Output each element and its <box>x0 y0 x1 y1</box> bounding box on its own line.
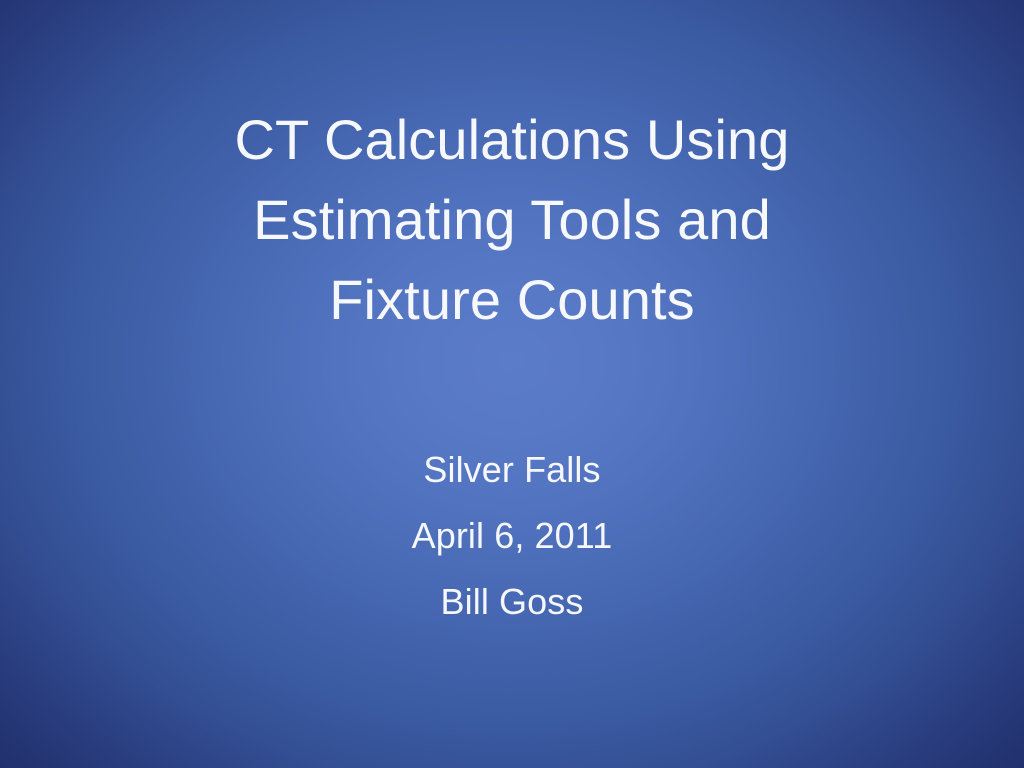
title-line-3: Fixture Counts <box>70 260 954 340</box>
title-line-1: CT Calculations Using <box>70 100 954 180</box>
title-line-2: Estimating Tools and <box>70 180 954 260</box>
subtitle-line-date: April 6, 2011 <box>70 503 954 569</box>
title-slide: CT Calculations Using Estimating Tools a… <box>0 0 1024 768</box>
slide-title: CT Calculations Using Estimating Tools a… <box>0 100 1024 340</box>
subtitle-line-location: Silver Falls <box>70 437 954 503</box>
subtitle-line-presenter: Bill Goss <box>70 569 954 635</box>
slide-content: CT Calculations Using Estimating Tools a… <box>0 0 1024 768</box>
slide-subtitle: Silver Falls April 6, 2011 Bill Goss <box>0 437 1024 635</box>
